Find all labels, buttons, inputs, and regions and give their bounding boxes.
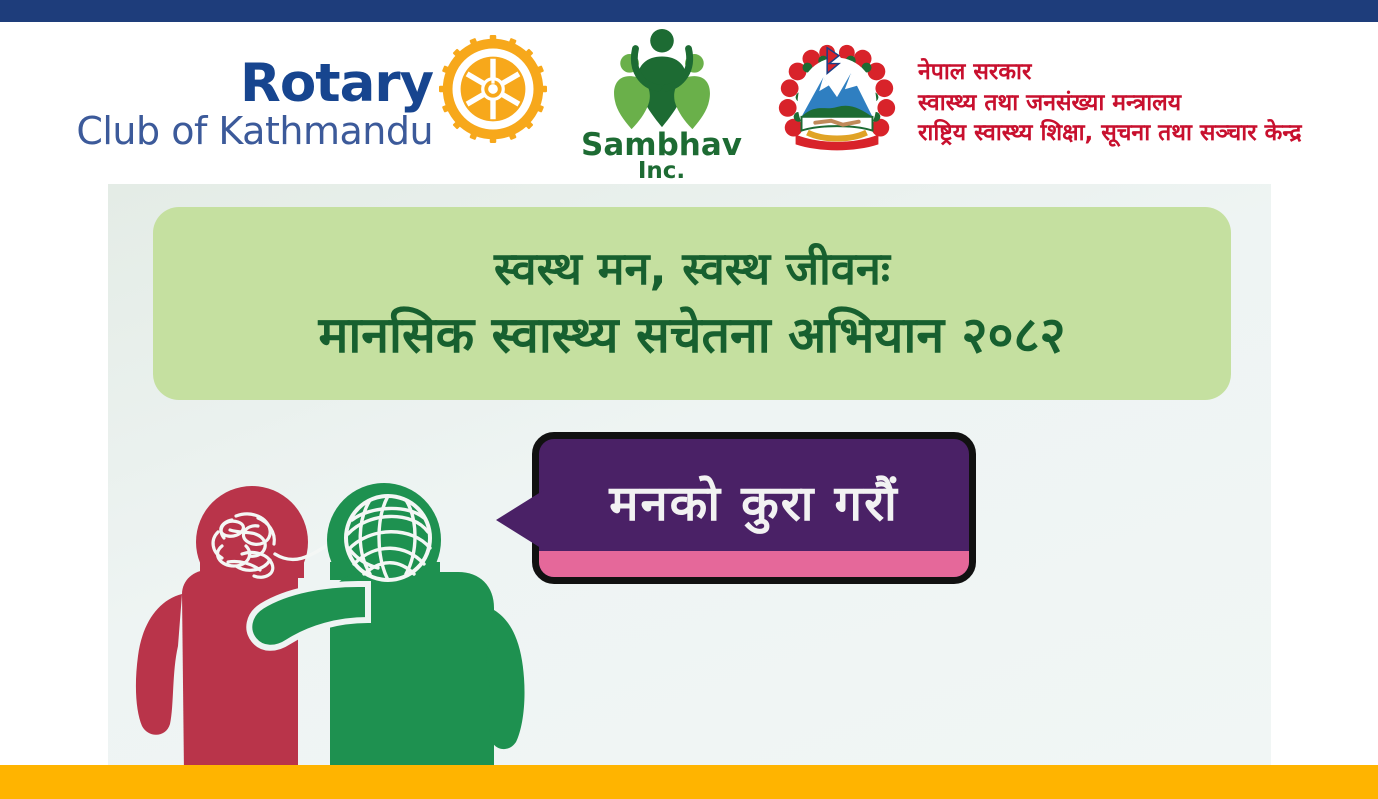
nepal-government-emblem-icon (768, 34, 906, 172)
sambhav-inc-logo: Sambhav Inc. (581, 27, 742, 183)
speech-bubble-accent-bar (539, 551, 969, 577)
two-people-support-illustration (112, 434, 552, 765)
campaign-title-line-1: स्वस्थ मन, स्वस्थ जीवनः (494, 242, 890, 295)
rotary-club-name: Club of Kathmandu (76, 112, 433, 150)
top-accent-band (0, 0, 1378, 22)
gov-line-ministry: स्वास्थ्य तथा जनसंख्या मन्त्रालय (918, 88, 1302, 119)
gov-line-center: राष्ट्रिय स्वास्थ्य शिक्षा, सूचना तथा सञ… (918, 118, 1302, 149)
speech-bubble-tail (496, 490, 544, 550)
nepal-government-text-block: नेपाल सरकार स्वास्थ्य तथा जनसंख्या मन्त्… (918, 57, 1302, 149)
sambhav-name: Sambhav (581, 131, 742, 160)
campaign-poster-slide: स्वस्थ मन, स्वस्थ जीवनः मानसिक स्वास्थ्य… (108, 184, 1271, 765)
rotary-wordmark: Rotary Club of Kathmandu (76, 57, 433, 150)
campaign-title-card: स्वस्थ मन, स्वस्थ जीवनः मानसिक स्वास्थ्य… (153, 207, 1231, 400)
bottom-accent-band (0, 765, 1378, 799)
sambhav-people-leaf-icon (603, 27, 721, 135)
rotary-name: Rotary (76, 57, 433, 110)
rotary-wheel-icon (439, 35, 547, 143)
speech-bubble-body: मनको कुरा गरौं (532, 432, 976, 584)
sambhav-suffix: Inc. (638, 160, 685, 183)
campaign-title-line-2: मानसिक स्वास्थ्य सचेतना अभियान २०८२ (318, 306, 1065, 365)
speech-bubble-text: मनको कुरा गरौं (609, 469, 899, 535)
partner-logo-strip: Rotary Club of Kathmandu (0, 22, 1378, 184)
nepal-government-logo: नेपाल सरकार स्वास्थ्य तथा जनसंख्या मन्त्… (768, 34, 1302, 172)
speech-bubble: मनको कुरा गरौं (496, 432, 951, 595)
gov-line-country: नेपाल सरकार (918, 57, 1302, 88)
rotary-club-logo: Rotary Club of Kathmandu (76, 35, 547, 171)
